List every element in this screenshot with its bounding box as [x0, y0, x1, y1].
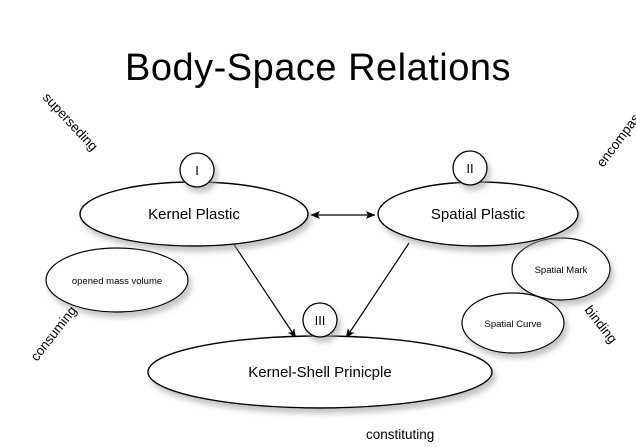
node-kernel-shell-principle[interactable]: Kernel-Shell Prinicple	[148, 336, 492, 408]
edge-spatial-to-principle	[346, 243, 409, 338]
body-space-relations-diagram: Body-Space Relations opened mass volume …	[0, 0, 636, 447]
node-label: Kernel-Shell Prinicple	[248, 364, 391, 381]
numeral-badge-iii[interactable]: III	[303, 303, 337, 337]
relation-label-encompassing: encompassing	[593, 91, 636, 170]
node-label: opened mass volume	[72, 276, 162, 287]
page-title: Body-Space Relations	[125, 47, 511, 89]
node-kernel-plastic[interactable]: Kernel Plastic	[80, 182, 308, 246]
node-label: Spatial Mark	[535, 265, 588, 276]
node-label: Kernel Plastic	[148, 206, 240, 223]
numeral-label: III	[315, 313, 326, 328]
numeral-label: II	[466, 161, 473, 176]
node-spatial-mark[interactable]: Spatial Mark	[512, 238, 610, 300]
relation-label-superseding: superseding	[40, 90, 101, 154]
node-spatial-curve[interactable]: Spatial Curve	[462, 293, 564, 353]
relation-label-constituting: constituting	[366, 427, 434, 442]
relation-label-consuming: consuming	[28, 303, 80, 364]
node-spatial-plastic[interactable]: Spatial Plastic	[378, 182, 578, 246]
numeral-badge-ii[interactable]: II	[453, 151, 487, 185]
node-label: Spatial Curve	[484, 319, 541, 330]
relation-label-binding: binding	[582, 303, 621, 347]
node-label: Spatial Plastic	[431, 206, 526, 223]
numeral-label: I	[195, 163, 199, 178]
node-opened-mass-volume[interactable]: opened mass volume	[46, 248, 188, 312]
numeral-badge-i[interactable]: I	[180, 153, 214, 187]
edge-kernel-to-principle	[233, 243, 296, 338]
diagram-canvas: Body-Space Relations opened mass volume …	[0, 0, 636, 447]
